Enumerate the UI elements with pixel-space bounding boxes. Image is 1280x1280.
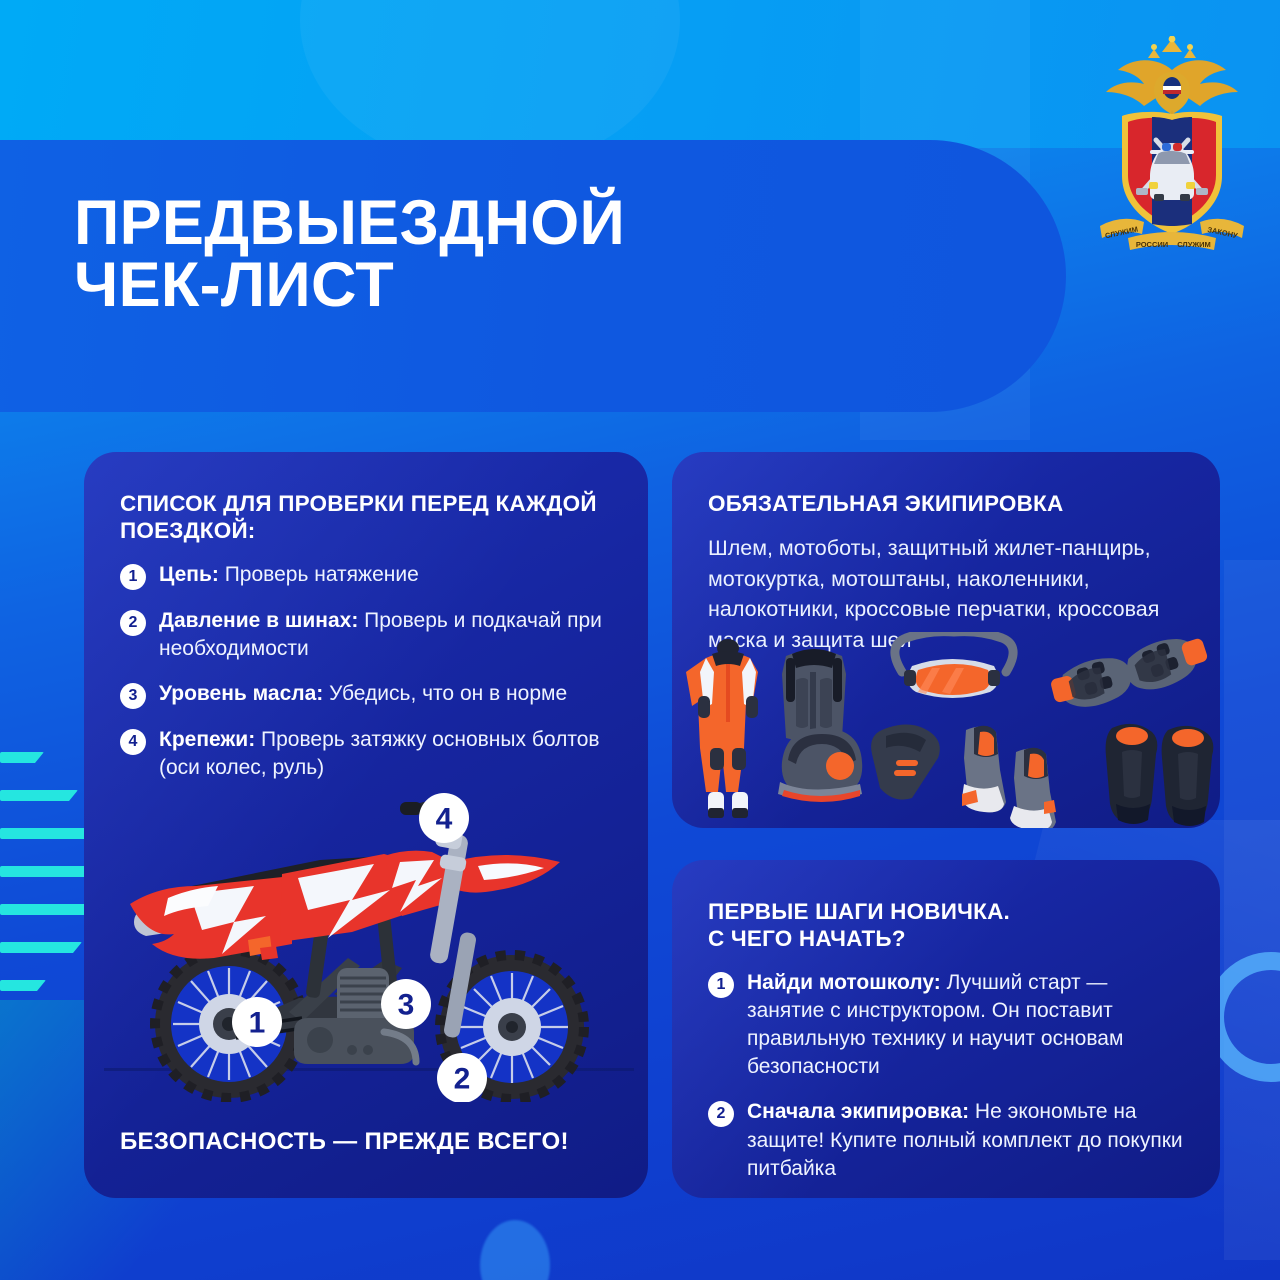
list-item-text: Сначала экипировка: Не экономьте на защи… (747, 1098, 1186, 1182)
ribbon-text-center-left: РОССИИ (1136, 240, 1168, 249)
checklist-items: 1 Цепь: Проверь натяжение 2 Давление в ш… (120, 561, 614, 783)
list-item: 3 Уровень масла: Убедись, что он в норме (120, 680, 614, 709)
pre-ride-checklist-card: СПИСОК ДЛЯ ПРОВЕРКИ ПЕРЕД КАЖДОЙ ПОЕЗДКО… (84, 452, 648, 1198)
list-item-badge: 1 (708, 972, 734, 998)
svg-text:3: 3 (398, 989, 415, 1022)
knee-pads-icon (1106, 724, 1214, 826)
steps-content: ПЕРВЫЕ ШАГИ НОВИЧКА. С ЧЕГО НАЧАТЬ? 1 На… (672, 860, 1220, 1183)
bike-marker-3: 3 (381, 979, 431, 1029)
list-item-badge: 2 (120, 610, 146, 636)
list-item-text: Цепь: Проверь натяжение (159, 561, 419, 590)
steps-items: 1 Найди мотошколу: Лучший старт — заняти… (708, 969, 1186, 1183)
list-item-text: Уровень масла: Убедись, что он в норме (159, 680, 567, 709)
svg-text:1: 1 (249, 1007, 266, 1040)
speed-dash (0, 790, 78, 801)
list-item: 4 Крепежи: Проверь затяжку основных болт… (120, 726, 614, 782)
list-item-badge: 3 (120, 683, 146, 709)
bike-marker-4: 4 (419, 793, 469, 843)
list-item-title: Найди мотошколу: (747, 971, 941, 994)
checklist-content: СПИСОК ДЛЯ ПРОВЕРКИ ПЕРЕД КАЖДОЙ ПОЕЗДКО… (84, 452, 648, 782)
speed-dash (0, 942, 82, 953)
bike-marker-2: 2 (437, 1053, 487, 1102)
list-item-title: Сначала экипировка: (747, 1100, 969, 1123)
page-title: ПРЕДВЫЕЗДНОЙ ЧЕК-ЛИСТ (74, 192, 834, 317)
checklist-heading-line1: СПИСОК ДЛЯ ПРОВЕРКИ ПЕРЕД КАЖДОЙ (120, 490, 614, 517)
svg-text:2: 2 (454, 1063, 471, 1096)
mvd-gibdd-emblem-icon: СЛУЖИМ ЗАКОНУ РОССИИ СЛУЖИМ (1092, 36, 1252, 252)
gear-content: ОБЯЗАТЕЛЬНАЯ ЭКИПИРОВКА Шлем, мотоботы, … (672, 452, 1220, 656)
list-item: 2 Сначала экипировка: Не экономьте на за… (708, 1098, 1186, 1182)
gloves-icon (1048, 632, 1213, 715)
list-item-title: Цепь: (159, 563, 219, 586)
background-blob (480, 1220, 550, 1280)
beginner-first-steps-card: ПЕРВЫЕ ШАГИ НОВИЧКА. С ЧЕГО НАЧАТЬ? 1 На… (672, 860, 1220, 1198)
page-title-line1: ПРЕДВЫЕЗДНОЙ (74, 192, 834, 254)
ribbon-text-center-right: СЛУЖИМ (1177, 240, 1211, 249)
list-item: 1 Найди мотошколу: Лучший старт — заняти… (708, 969, 1186, 1082)
goggles-icon (895, 632, 1013, 698)
steps-heading: ПЕРВЫЕ ШАГИ НОВИЧКА. С ЧЕГО НАЧАТЬ? (708, 898, 1186, 953)
list-item-text: Крепежи: Проверь затяжку основных болтов… (159, 726, 614, 782)
page-title-line2: ЧЕК-ЛИСТ (74, 254, 834, 316)
list-item-text: Найди мотошколу: Лучший старт — занятие … (747, 969, 1186, 1082)
gear-heading: ОБЯЗАТЕЛЬНАЯ ЭКИПИРОВКА (708, 490, 1186, 517)
list-item-text: Давление в шинах: Проверь и подкачай при… (159, 607, 614, 663)
list-item-title: Уровень масла: (159, 682, 323, 705)
speed-dash (0, 828, 96, 839)
speed-dash (0, 752, 44, 763)
safety-footer-text: БЕЗОПАСНОСТЬ — ПРЕЖДЕ ВСЕГО! (120, 1128, 569, 1156)
speed-dash (0, 980, 46, 991)
list-item: 2 Давление в шинах: Проверь и подкачай п… (120, 607, 614, 663)
steps-heading-line2: С ЧЕГО НАЧАТЬ? (708, 925, 1186, 952)
boots-icon (962, 726, 1056, 828)
racing-suit-icon (686, 639, 758, 818)
dirt-bike-illustration: 4 3 1 2 (84, 782, 648, 1102)
list-item-badge: 1 (120, 564, 146, 590)
gear-illustration (680, 632, 1220, 828)
neck-brace-icon (871, 724, 940, 799)
chest-protector-icon (782, 649, 846, 742)
list-item-title: Давление в шинах: (159, 609, 358, 632)
list-item-badge: 4 (120, 729, 146, 755)
checklist-heading: СПИСОК ДЛЯ ПРОВЕРКИ ПЕРЕД КАЖДОЙ ПОЕЗДКО… (120, 490, 614, 545)
checklist-heading-line2: ПОЕЗДКОЙ: (120, 517, 614, 544)
list-item: 1 Цепь: Проверь натяжение (120, 561, 614, 590)
list-item-badge: 2 (708, 1101, 734, 1127)
list-item-title: Крепежи: (159, 728, 255, 751)
mandatory-gear-card: ОБЯЗАТЕЛЬНАЯ ЭКИПИРОВКА Шлем, мотоботы, … (672, 452, 1220, 828)
bike-marker-1: 1 (232, 997, 282, 1047)
list-item-desc: Убедись, что он в норме (323, 682, 567, 705)
list-item-desc: Проверь натяжение (219, 563, 419, 586)
steps-heading-line1: ПЕРВЫЕ ШАГИ НОВИЧКА. (708, 898, 1186, 925)
svg-text:4: 4 (436, 803, 453, 836)
